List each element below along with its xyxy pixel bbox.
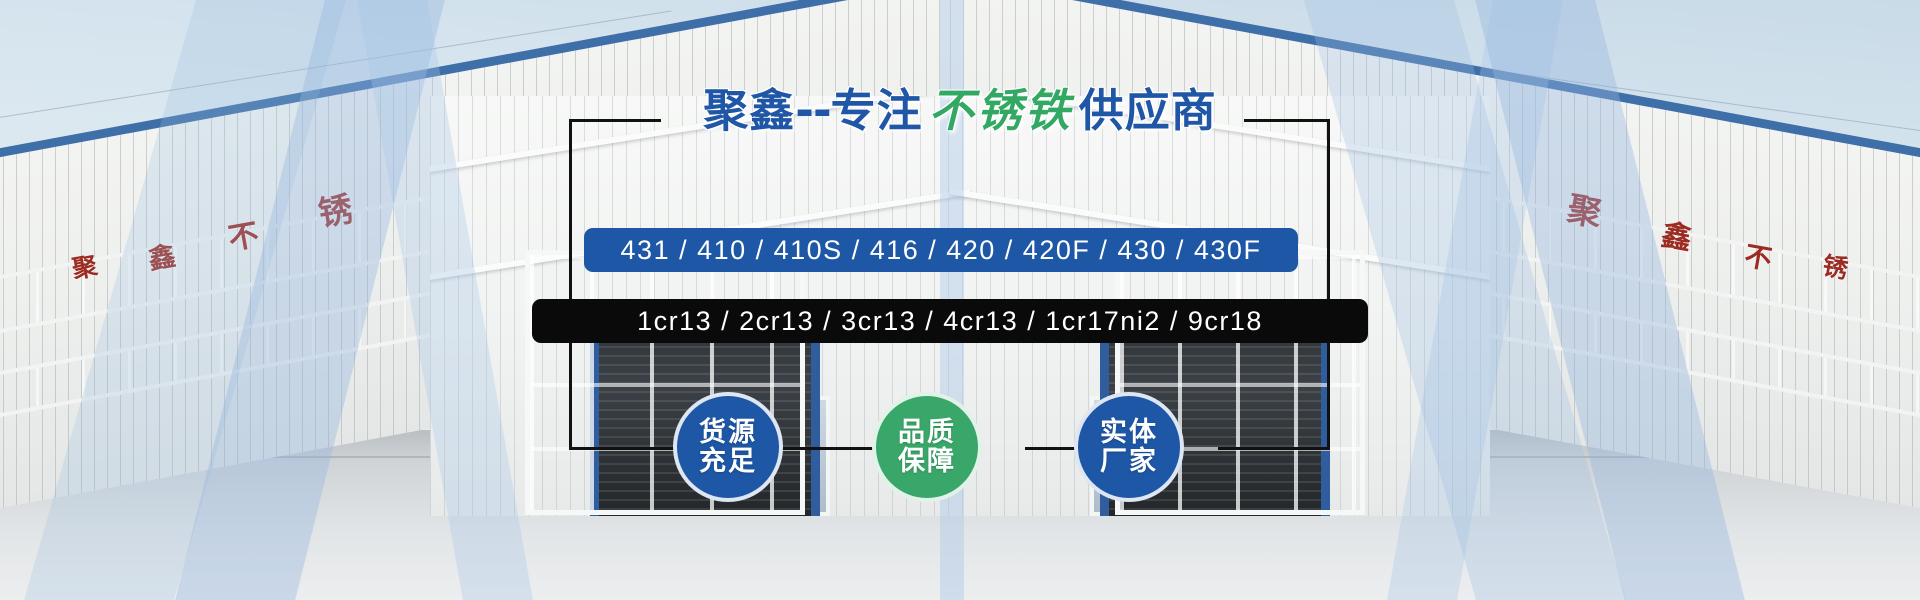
headline-brand: 聚鑫: [703, 84, 795, 137]
feature-badge-factory: 实体 厂家: [1074, 392, 1184, 502]
feature-line-2: 厂家: [1100, 447, 1158, 476]
steel-grades-text: 431 / 410 / 410S / 416 / 420 / 420F / 43…: [621, 235, 1262, 266]
steel-grades-bar: 431 / 410 / 410S / 416 / 420 / 420F / 43…: [584, 228, 1298, 272]
banner-headline: 聚鑫--专注不锈铁供应商: [0, 74, 1920, 139]
banner-overlay: 聚鑫--专注不锈铁供应商 431 / 410 / 410S / 416 / 42…: [0, 0, 1920, 600]
feature-badge-supply: 货源 充足: [673, 392, 783, 502]
feature-line-2: 充足: [699, 447, 757, 476]
feature-line-2: 保障: [898, 447, 956, 476]
frame-line-bottom-2: [780, 447, 884, 450]
frame-line-right: [1327, 119, 1330, 450]
feature-line-1: 实体: [1100, 418, 1158, 447]
frame-line-bottom-4: [1218, 447, 1330, 450]
feature-line-1: 货源: [699, 418, 757, 447]
alloy-grades-bar: 1cr13 / 2cr13 / 3cr13 / 4cr13 / 1cr17ni2…: [532, 299, 1368, 343]
hero-banner: 聚 鑫 不 锈 锈 不 鑫 聚: [0, 0, 1920, 600]
frame-line-left: [569, 119, 572, 450]
headline-focus: 专注: [831, 84, 923, 137]
alloy-grades-text: 1cr13 / 2cr13 / 3cr13 / 4cr13 / 1cr17ni2…: [637, 306, 1263, 337]
feature-line-1: 品质: [898, 418, 956, 447]
feature-badge-quality: 品质 保障: [872, 392, 982, 502]
headline-supplier: 供应商: [1079, 84, 1217, 137]
headline-dash: --: [795, 84, 830, 137]
headline-highlight: 不锈铁: [923, 84, 1079, 137]
frame-line-bottom-1: [569, 447, 684, 450]
